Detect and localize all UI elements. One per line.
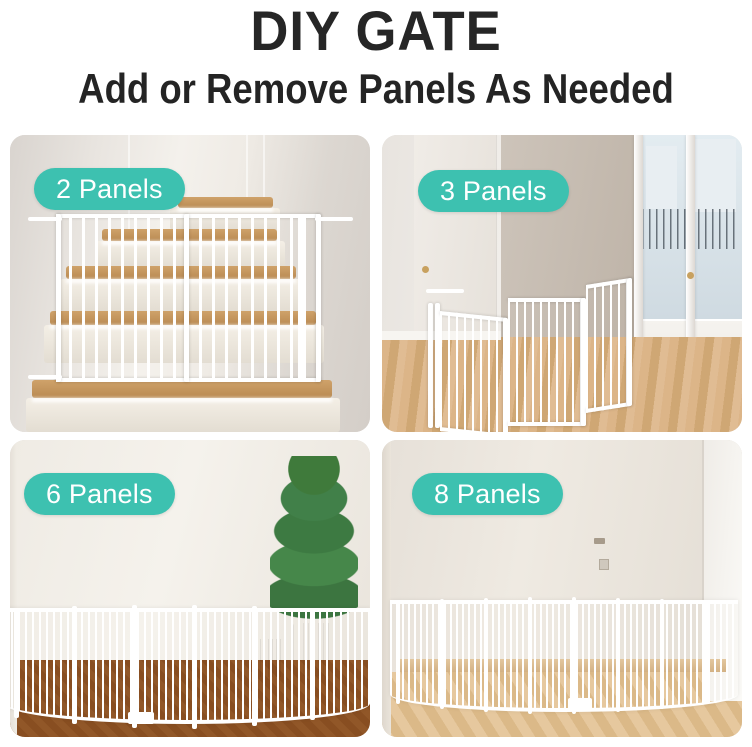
door-lock-icon (599, 559, 609, 570)
gate-return-left (428, 303, 440, 428)
plant-foliage-icon (270, 456, 358, 619)
gate-wall-mount-left (28, 217, 62, 221)
infographic-page: DIY GATE Add or Remove Panels As Needed (0, 0, 752, 747)
gate-post-2 (440, 599, 444, 709)
page-title: DIY GATE (23, 2, 730, 60)
gate-post-4 (528, 597, 532, 714)
stair-riser (26, 398, 340, 432)
panel-photo-grid: 2 Panels (10, 135, 742, 737)
gate-section-2 (508, 298, 586, 426)
door-knob-icon (422, 266, 429, 273)
page-subtitle: Add or Remove Panels As Needed (49, 66, 703, 112)
badge-2-panels: 2 Panels (34, 168, 185, 210)
gate-6-panels (10, 608, 370, 724)
panel-photo-8-panels: 8 Panels (382, 440, 742, 737)
window-latch-icon (687, 272, 694, 279)
gate-post-1 (396, 600, 400, 704)
gate-post-right (627, 278, 632, 407)
gate-2-panels (56, 214, 321, 382)
gate-section-3 (586, 278, 632, 413)
gate-wall-mount-left (426, 289, 464, 293)
gate-post-5 (252, 606, 257, 726)
gate-post-left (428, 303, 433, 428)
gate-post-4 (192, 605, 197, 729)
gate-post-1 (14, 608, 19, 718)
gate-foot (568, 698, 592, 710)
badge-8-panels: 8 Panels (412, 473, 563, 515)
gate-bars (440, 311, 508, 432)
gate-post-6 (310, 608, 315, 720)
badge-6-panels: 6 Panels (24, 473, 175, 515)
badge-3-panels: 3 Panels (418, 170, 569, 212)
stair-tread (32, 380, 332, 398)
gate-bars (586, 278, 632, 413)
gate-hinge-post (298, 214, 303, 382)
gate-section-1 (440, 311, 508, 432)
gate-foot (128, 712, 154, 724)
gate-wall-mount-right (315, 217, 353, 221)
gate-post-8 (704, 600, 708, 704)
gate-post-7 (660, 599, 664, 709)
gate-post-2 (72, 606, 77, 724)
gate-bars (56, 214, 321, 382)
stair-light (32, 398, 332, 402)
panel-photo-6-panels: 6 Panels (10, 440, 370, 737)
panel-photo-3-panels: 3 Panels (382, 135, 742, 432)
building-exterior (646, 146, 677, 209)
gate-foot-left (28, 375, 62, 379)
gate-post-5 (572, 597, 576, 714)
gate-post-6 (616, 598, 620, 712)
panel-photo-2-panels: 2 Panels (10, 135, 370, 432)
stair-tread (178, 197, 273, 208)
building-exterior (694, 139, 736, 213)
stair-light (178, 208, 273, 212)
gate-post-3 (132, 605, 137, 728)
gate-bars (508, 298, 586, 426)
gate-post-3 (484, 598, 488, 712)
header: DIY GATE Add or Remove Panels As Needed (0, 0, 752, 112)
door-handle-icon (594, 538, 605, 544)
